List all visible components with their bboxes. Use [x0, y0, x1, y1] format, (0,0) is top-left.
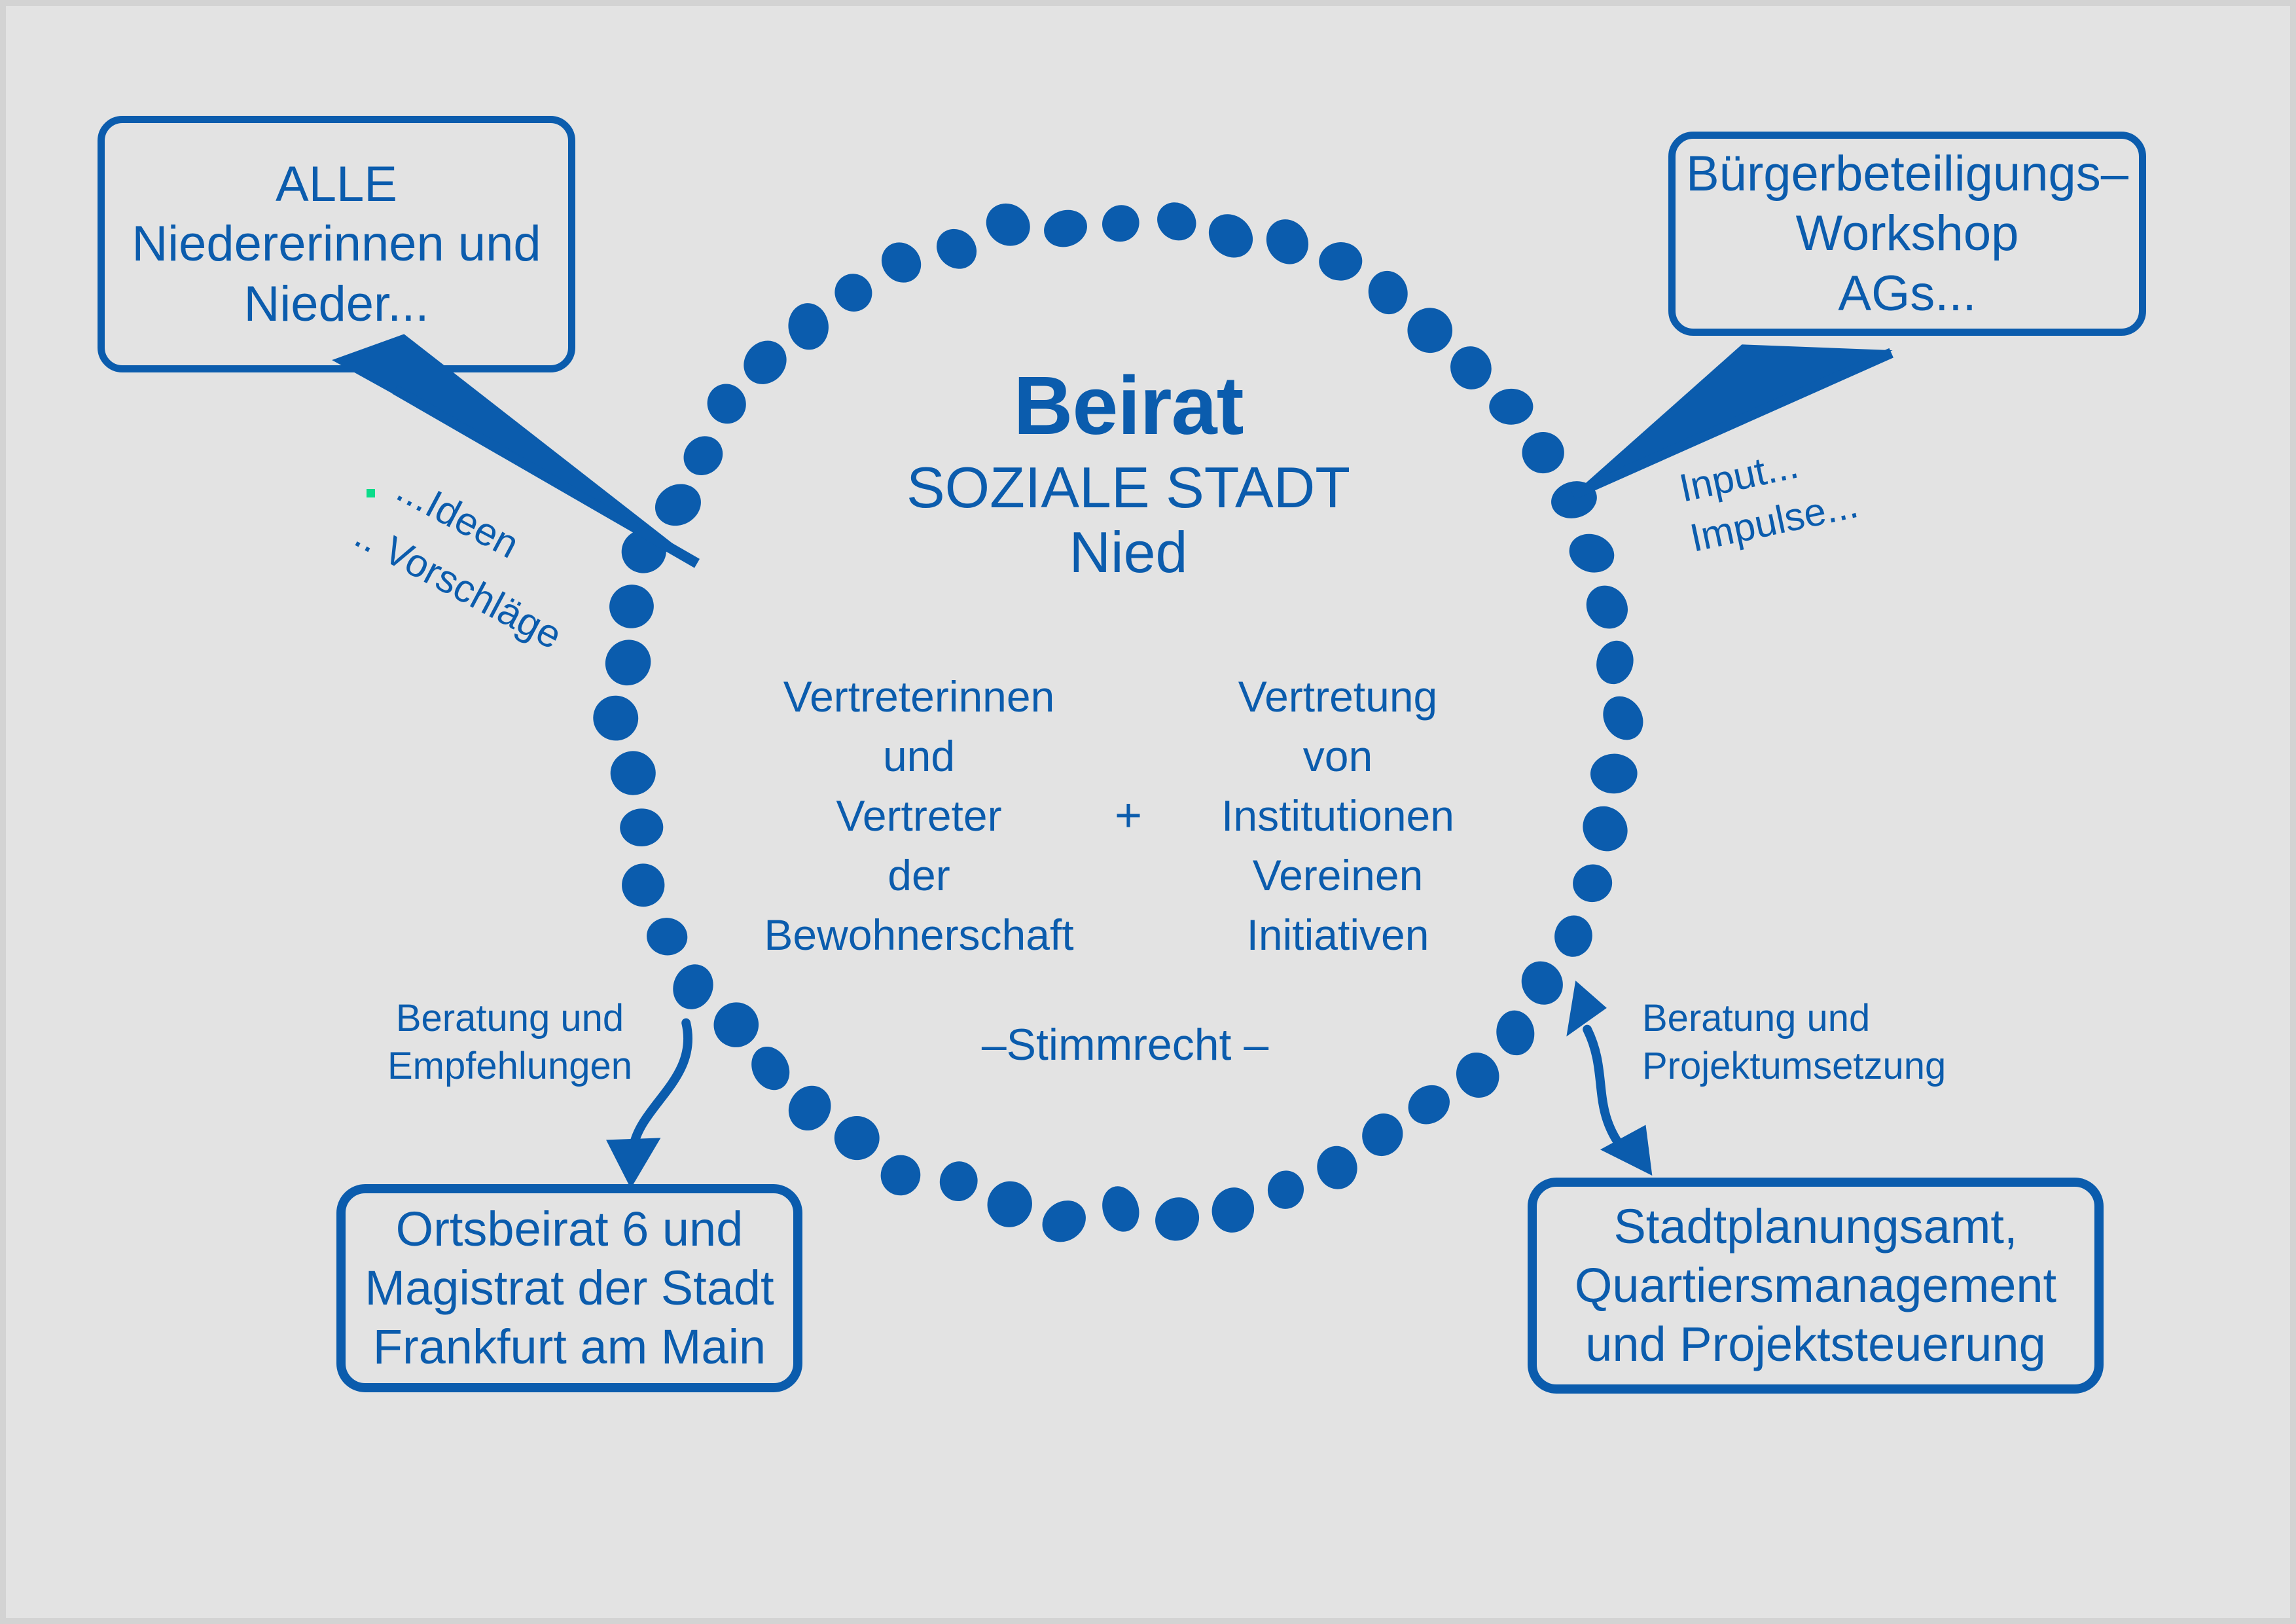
circle-dot	[648, 477, 708, 533]
circle-dot	[1547, 477, 1602, 524]
circle-dot	[619, 808, 664, 847]
arrow-right-curve	[1587, 1030, 1619, 1144]
circle-dot	[1399, 300, 1461, 361]
circle-dot	[833, 1114, 882, 1163]
circle-dot	[1494, 1008, 1537, 1058]
annotation-beratung-empfehlungen: Beratung und Empfehlungen	[372, 994, 647, 1090]
circle-dot	[701, 378, 752, 430]
circle-dot	[828, 267, 880, 319]
circle-dot	[644, 915, 690, 958]
circle-dot	[1206, 1182, 1260, 1238]
circle-dot	[1578, 577, 1636, 637]
circle-dot	[1039, 204, 1092, 252]
center-title-block: Beirat SOZIALE STADT Nied	[745, 359, 1511, 585]
circle-dot	[604, 579, 659, 634]
circle-dot	[1564, 528, 1620, 579]
speech-bubble-right-text: Bürgerbeteiligungs– Workshop AGs...	[1669, 140, 2145, 327]
speech-bubble-left-text: ALLE Niedererinnen und Nieder...	[115, 151, 558, 338]
title-beirat: Beirat	[745, 359, 1511, 452]
circle-dot	[1265, 1168, 1307, 1212]
stimmrecht-label: –Stimmrecht –	[778, 1019, 1472, 1070]
circle-dot	[667, 958, 719, 1015]
box-ortsbeirat-magistrat: Ortsbeirat 6 und Magistrat der Stadt Fra…	[336, 1184, 802, 1392]
circle-dot	[1364, 267, 1412, 319]
circle-dot	[1595, 689, 1651, 748]
column-residents: Vertreterinnen und Vertreter der Bewohne…	[749, 667, 1089, 965]
column-institutions: Vertretung von Institutionen Vereinen In…	[1168, 667, 1508, 965]
circle-dot	[981, 1175, 1039, 1233]
circle-dot	[596, 630, 660, 695]
arrow-left-head	[606, 1138, 660, 1188]
circle-dot	[614, 522, 673, 581]
circle-dot	[1313, 1142, 1361, 1193]
circle-dot	[1355, 1107, 1410, 1163]
membership-columns: Vertreterinnen und Vertreter der Bewohne…	[693, 667, 1564, 965]
annotation-beratung-projektumsetzung: Beratung und Projektumsetzung	[1642, 994, 1969, 1090]
circle-dot	[1573, 797, 1637, 861]
circle-dot	[1401, 1077, 1457, 1132]
title-soziale-stadt: SOZIALE STADT	[745, 456, 1511, 520]
circle-dot	[1590, 753, 1638, 794]
plus-sign: +	[1089, 784, 1168, 848]
circle-dot	[675, 428, 730, 483]
green-speck	[367, 489, 375, 497]
circle-dot	[873, 234, 929, 291]
circle-dot	[786, 301, 831, 352]
speech-bubble-left: ALLE Niedererinnen und Nieder...	[98, 116, 575, 372]
circle-dot	[1200, 206, 1261, 267]
box-stadtplanungsamt: Stadtplanungsamt, Quartiersmanagement un…	[1528, 1178, 2104, 1394]
circle-dot	[1096, 1182, 1145, 1237]
circle-dot	[876, 1151, 925, 1200]
circle-dot	[1149, 194, 1204, 248]
circle-dot	[1522, 431, 1565, 474]
circle-dot	[978, 195, 1039, 255]
circle-dot	[780, 1078, 839, 1138]
arrow-right-head-down	[1600, 1125, 1652, 1176]
circle-dot	[1095, 198, 1147, 249]
circle-dot	[935, 1157, 982, 1206]
circle-dot	[1146, 1189, 1208, 1250]
arrow-right-head-up	[1566, 981, 1607, 1036]
bubble-left-tail-edge	[395, 389, 697, 564]
speech-bubble-right: Bürgerbeteiligungs– Workshop AGs...	[1668, 132, 2146, 336]
annotation-input-impulse: Input... Impulse...	[1675, 429, 1863, 564]
circle-dot	[1259, 211, 1317, 272]
circle-dot	[1318, 241, 1363, 282]
circle-dot	[1592, 636, 1639, 689]
circle-dot	[1569, 861, 1616, 907]
circle-dot	[610, 751, 656, 796]
circle-dot	[929, 221, 985, 277]
circle-dot	[621, 863, 665, 907]
circle-dot	[1034, 1192, 1094, 1250]
diagram-canvas: ALLE Niedererinnen und Nieder... Bürgerb…	[0, 0, 2296, 1624]
title-nied: Nied	[745, 520, 1511, 585]
circle-dot	[584, 687, 647, 749]
circle-dot	[704, 993, 768, 1056]
